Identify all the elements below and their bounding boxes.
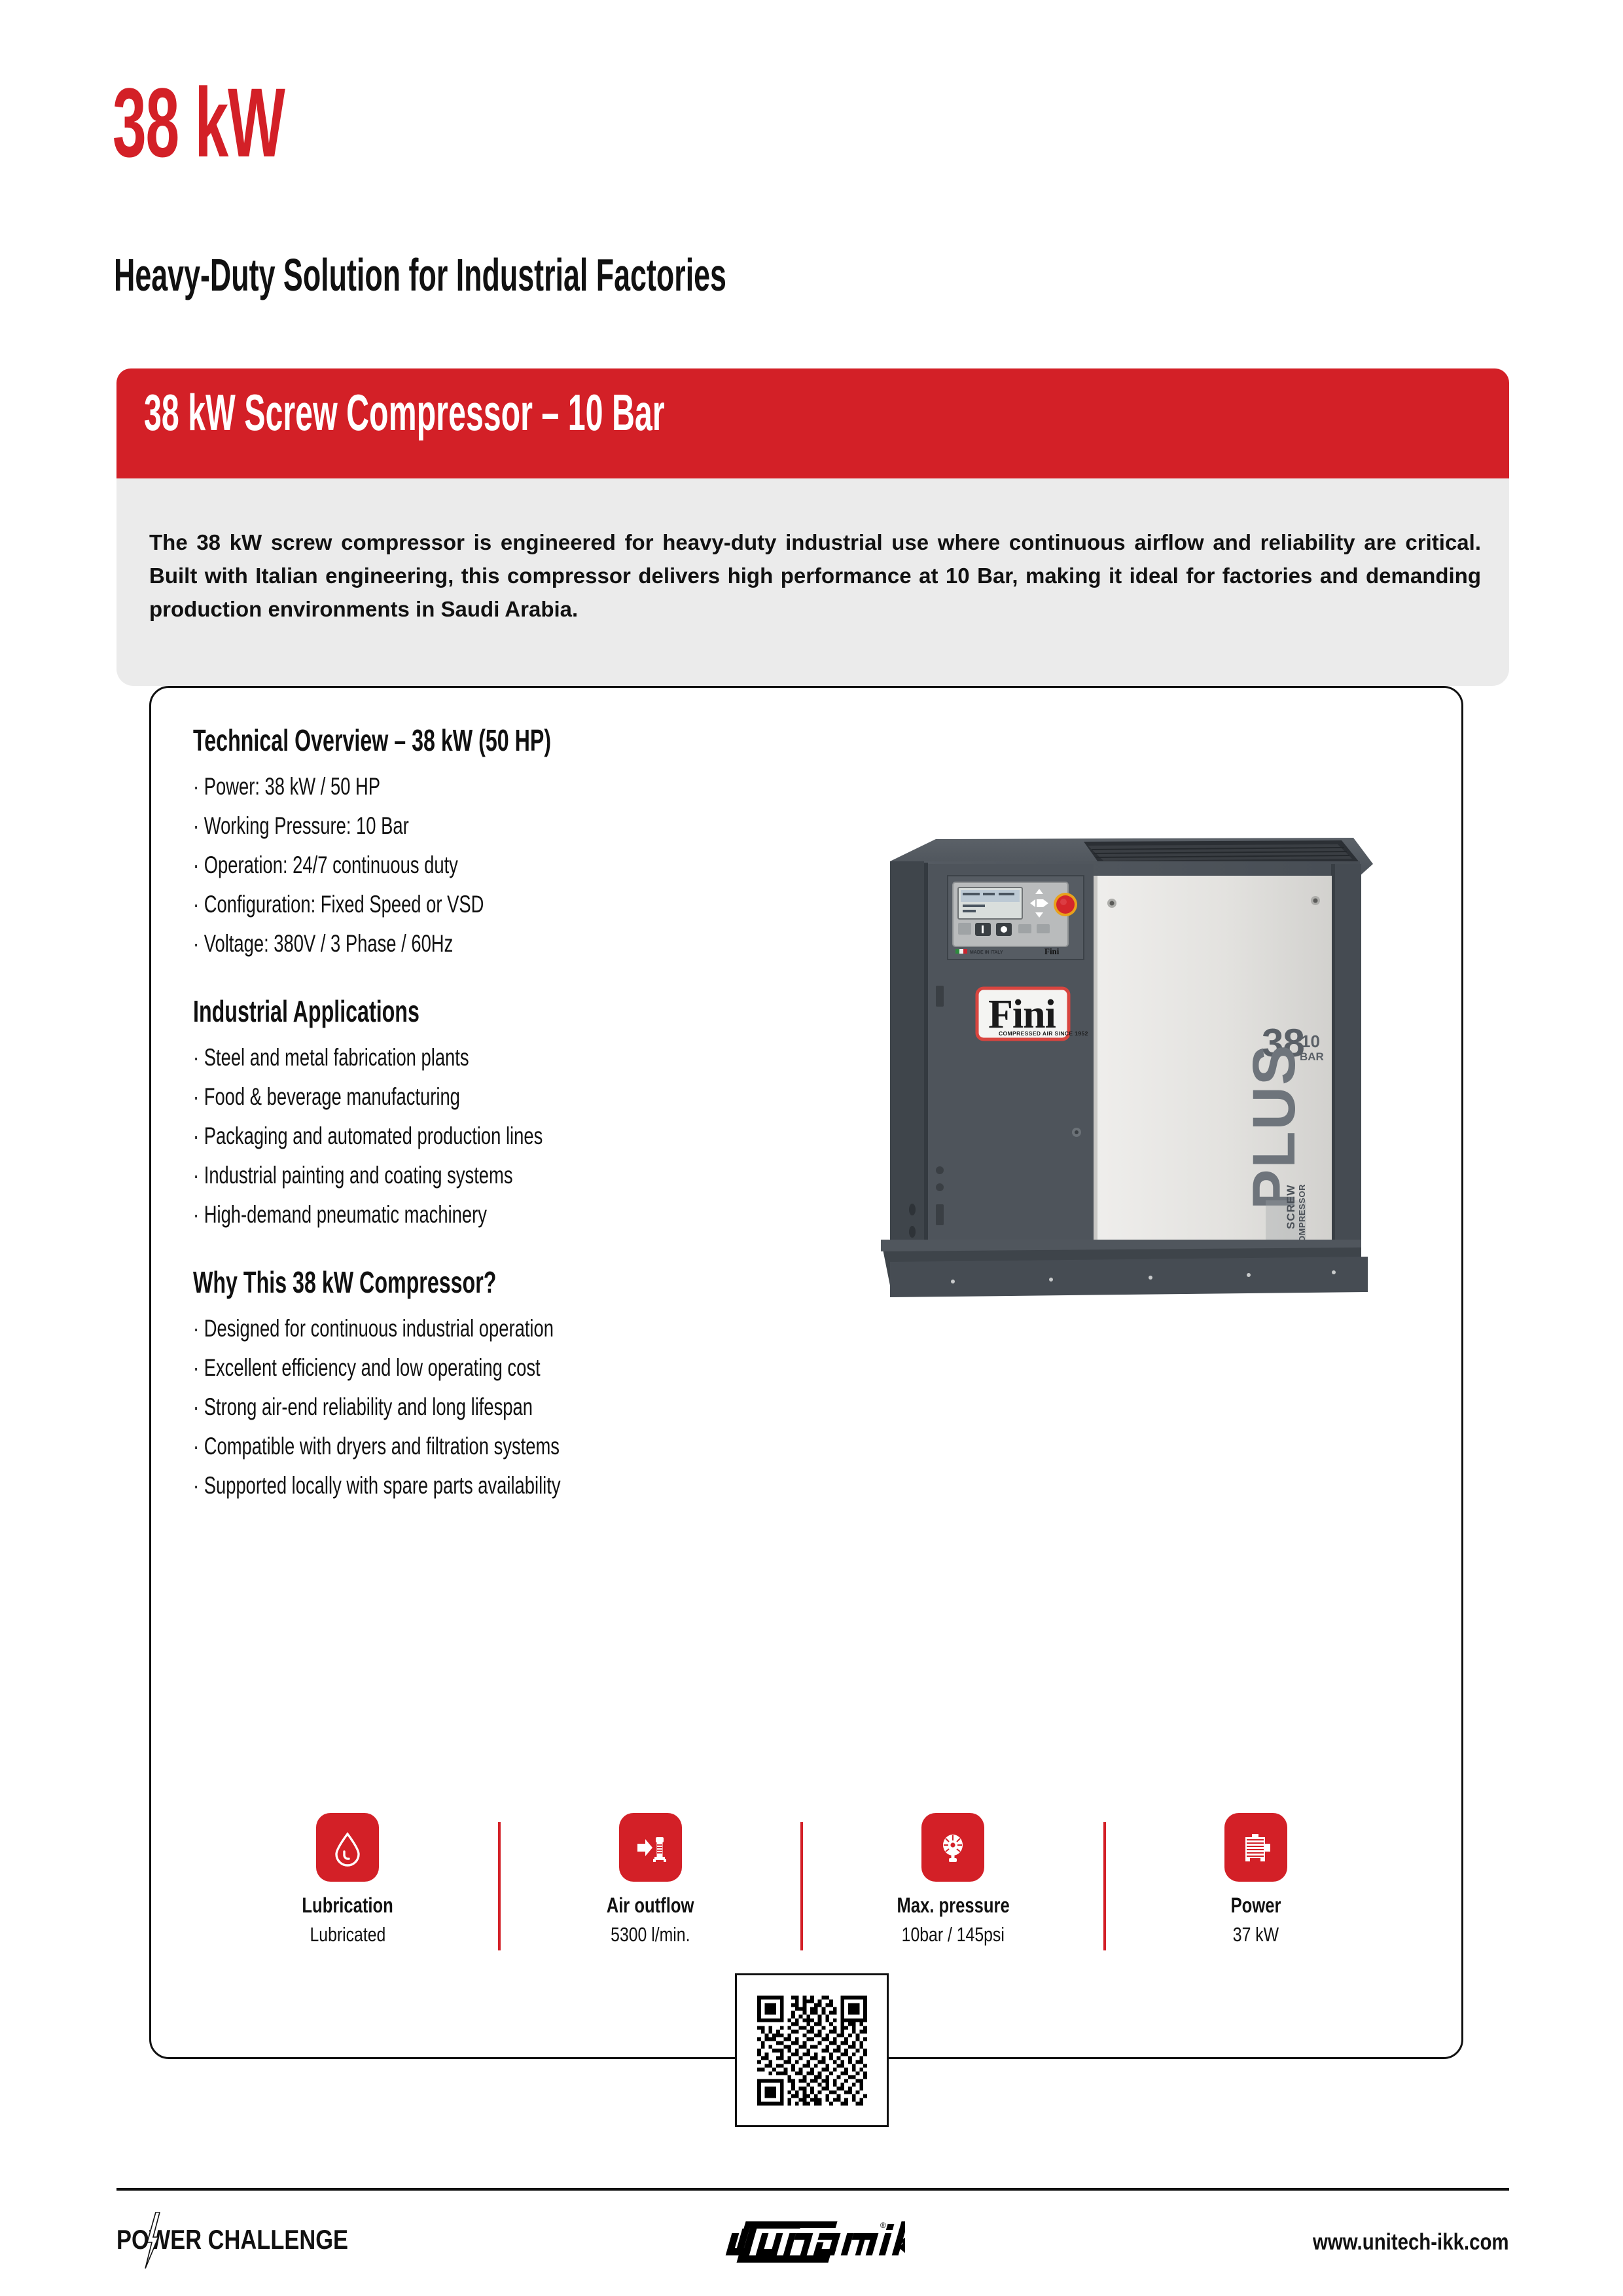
dynamik-trademark: ® (880, 2221, 886, 2230)
website-url: www.unitech-ikk.com (1313, 2229, 1509, 2255)
section-heading-applications: Industrial Applications (193, 996, 624, 1026)
spec-item-max-pressure: Max. pressure 10bar / 145psi (802, 1813, 1105, 1946)
svg-text:Fini: Fini (1044, 946, 1060, 956)
list-item: · Industrial painting and coating system… (193, 1156, 649, 1195)
intro-block: The 38 kW screw compressor is engineered… (116, 478, 1509, 686)
section-heading-why: Why This 38 kW Compressor? (193, 1267, 624, 1297)
pressure-gauge-icon (921, 1813, 984, 1882)
spec-item-power: Power 37 kW (1105, 1813, 1408, 1946)
industrial-applications-list: · Steel and metal fabrication plants · F… (193, 1038, 808, 1234)
list-item: · Excellent efficiency and low operating… (193, 1348, 649, 1388)
product-banner: 38 kW Screw Compressor – 10 Bar (116, 368, 1509, 478)
list-item: · Supported locally with spare parts ava… (193, 1466, 649, 1505)
product-image-compressor: MADE IN ITALY Fini Fini COMPRESSED AIR S… (876, 823, 1393, 1308)
oil-droplet-icon (316, 1813, 379, 1882)
svg-text:MADE IN ITALY: MADE IN ITALY (970, 950, 1003, 955)
svg-text:SCREW: SCREW (1285, 1185, 1297, 1229)
list-item: · Voltage: 380V / 3 Phase / 60Hz (193, 924, 649, 963)
lightning-bolt-icon (143, 2212, 162, 2269)
banner-title: 38 kW Screw Compressor – 10 Bar (144, 387, 665, 438)
intro-paragraph: The 38 kW screw compressor is engineered… (149, 526, 1481, 626)
spec-value: 10bar / 145psi (902, 1923, 1005, 1946)
technical-overview-list: · Power: 38 kW / 50 HP · Working Pressur… (193, 767, 808, 963)
spec-item-air-outflow: Air outflow 5300 l/min. (499, 1813, 802, 1946)
spec-label: Lubrication (302, 1893, 393, 1918)
list-item: · Working Pressure: 10 Bar (193, 806, 649, 846)
why-compressor-list: · Designed for continuous industrial ope… (193, 1309, 808, 1505)
list-item: · High-demand pneumatic machinery (193, 1195, 649, 1234)
air-outflow-icon (619, 1813, 682, 1882)
footer: POWER CHALLENGE (116, 2212, 1509, 2271)
spec-label: Air outflow (607, 1893, 694, 1918)
electric-motor-icon (1224, 1813, 1287, 1882)
spec-value: 37 kW (1233, 1923, 1279, 1946)
dynamik-logo: ® (709, 2214, 905, 2272)
spec-item-lubrication: Lubrication Lubricated (196, 1813, 499, 1946)
footer-divider (116, 2188, 1509, 2191)
list-item: · Designed for continuous industrial ope… (193, 1309, 649, 1348)
section-heading-technical: Technical Overview – 38 kW (50 HP) (193, 725, 624, 755)
list-item: · Operation: 24/7 continuous duty (193, 846, 649, 885)
list-item: · Steel and metal fabrication plants (193, 1038, 649, 1077)
qr-code-graphic (757, 1996, 867, 2106)
spec-value: Lubricated (310, 1923, 385, 1946)
list-item: · Food & beverage manufacturing (193, 1077, 649, 1117)
page-subtitle: Heavy-Duty Solution for Industrial Facto… (114, 252, 726, 298)
spec-value: 5300 l/min. (611, 1923, 690, 1946)
spec-label: Max. pressure (897, 1893, 1009, 1918)
spec-strip: Lubrication Lubricated Air outflow 5 (196, 1813, 1407, 1970)
list-item: · Compatible with dryers and filtration … (193, 1427, 649, 1466)
list-item: · Configuration: Fixed Speed or VSD (193, 885, 649, 924)
list-item: · Strong air-end reliability and long li… (193, 1388, 649, 1427)
list-item: · Power: 38 kW / 50 HP (193, 767, 649, 806)
qr-code[interactable] (735, 1973, 889, 2127)
svg-text:COMPRESSOR: COMPRESSOR (1297, 1184, 1307, 1249)
spec-label: Power (1230, 1893, 1281, 1918)
list-item: · Packaging and automated production lin… (193, 1117, 649, 1156)
svg-text:COMPRESSED AIR SINCE 1952: COMPRESSED AIR SINCE 1952 (999, 1030, 1088, 1037)
page-title: 38 kW (113, 73, 285, 171)
details-column: Technical Overview – 38 kW (50 HP) · Pow… (193, 725, 808, 1505)
